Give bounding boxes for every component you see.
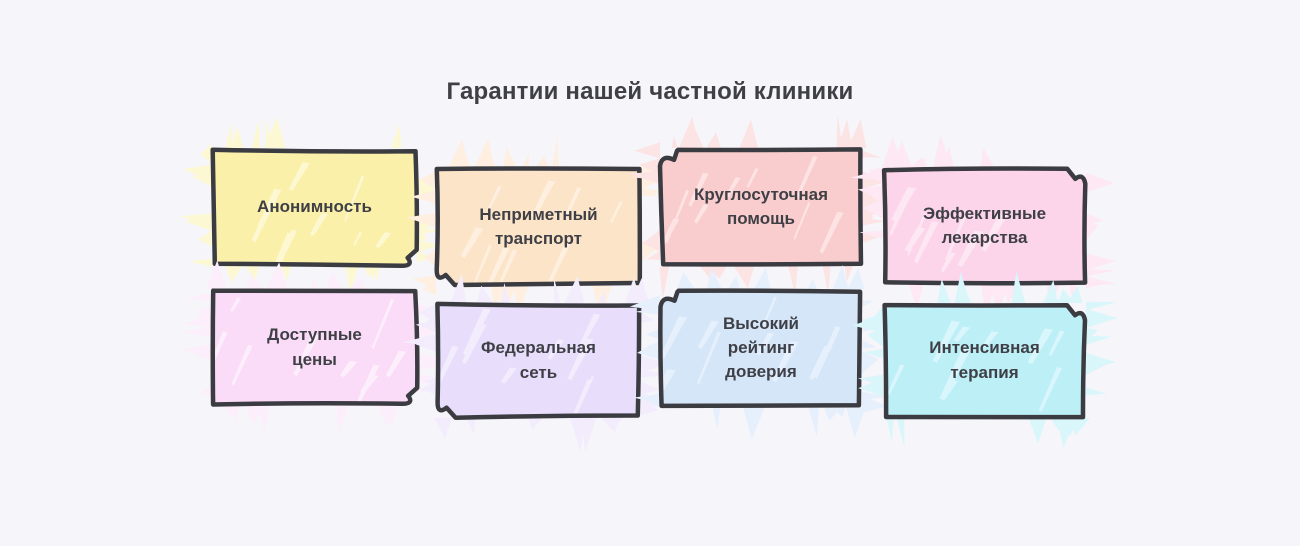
guarantee-card[interactable]: Круглосуточная помощь (660, 148, 862, 266)
card-label: Интенсивная терапия (883, 303, 1086, 418)
card-label: Федеральная сеть (436, 303, 641, 418)
card-label: Высокий рейтинг доверия (660, 289, 862, 407)
guarantee-card[interactable]: Неприметный транспорт (436, 168, 641, 286)
guarantee-card-grid: АнонимностьНеприметный транспортКруглосу… (0, 0, 1300, 546)
guarantee-card[interactable]: Интенсивная терапия (883, 303, 1086, 418)
guarantee-card[interactable]: Федеральная сеть (436, 303, 641, 418)
guarantee-card[interactable]: Эффективные лекарства (883, 168, 1086, 284)
guarantee-card[interactable]: Доступные цены (212, 289, 417, 406)
infographic-root: Гарантии нашей частной клиники Анонимнос… (0, 0, 1300, 546)
card-label: Доступные цены (212, 289, 417, 406)
card-label: Анонимность (212, 148, 417, 266)
card-label: Круглосуточная помощь (660, 148, 862, 266)
card-label: Неприметный транспорт (436, 168, 641, 286)
guarantee-card[interactable]: Высокий рейтинг доверия (660, 289, 862, 407)
guarantee-card[interactable]: Анонимность (212, 148, 417, 266)
card-label: Эффективные лекарства (883, 168, 1086, 284)
